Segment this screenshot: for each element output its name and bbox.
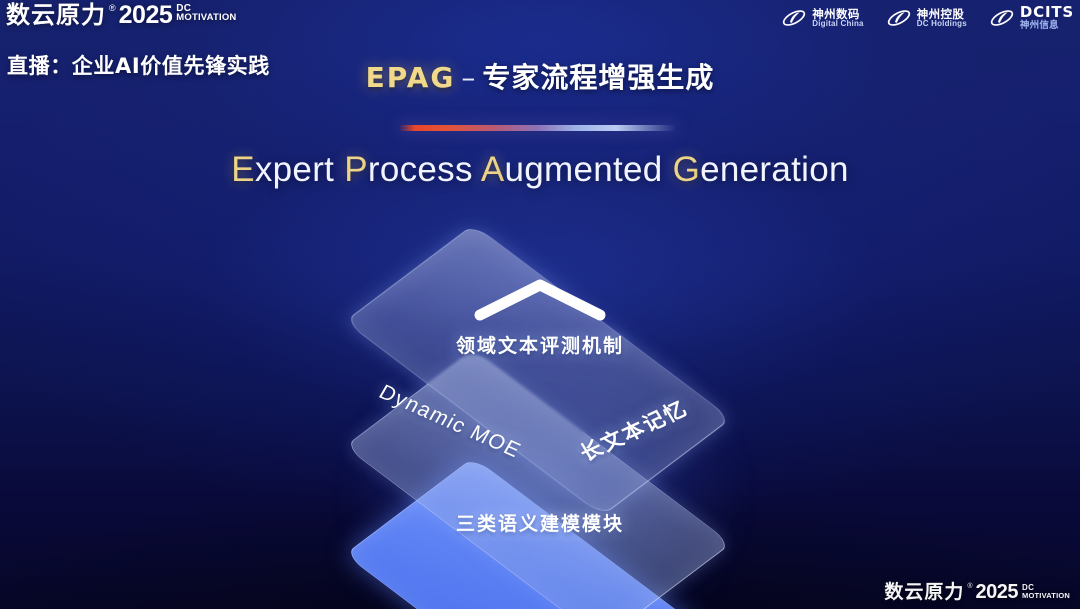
- partner-name-en: Digital China: [812, 20, 864, 28]
- layer-label-bottom: 三类语义建模模块: [0, 509, 1080, 536]
- subtitle-part: xpert: [255, 150, 344, 189]
- brand-watermark: 数云原力 ® 2025 DC MOTIVATION: [884, 582, 1070, 603]
- swoosh-logo-icon: [886, 5, 912, 31]
- subtitle-part: G: [673, 150, 701, 189]
- chevron-up-icon: [472, 277, 608, 323]
- livestream-title: 直播：企业AI价值先锋实践: [7, 50, 270, 80]
- slide-subtitle: Expert Process Augmented Generation: [0, 150, 1080, 190]
- subtitle-part: ugmented: [505, 150, 673, 189]
- watermark-name-cn: 数云原力: [884, 582, 964, 603]
- partner-logo-group: 神州数码 Digital China 神州控股 DC Holdings: [781, 5, 1074, 31]
- subtitle-part: eneration: [700, 150, 849, 189]
- gradient-divider: [398, 125, 678, 131]
- layer-plate-top: [344, 224, 731, 516]
- subtitle-part: rocess: [368, 150, 481, 189]
- subtitle-part: P: [344, 150, 368, 189]
- watermark-year: 2025: [976, 582, 1019, 603]
- partner-label: 神州数码 Digital China: [812, 8, 864, 28]
- epag-layer-stack: 领域文本评测机制 Dynamic MOE 长文本记忆 三类语义建模模块: [0, 215, 1080, 605]
- partner-logo-digital-china: 神州数码 Digital China: [781, 5, 864, 31]
- brand-logo: 数云原力 ® 2025 DC MOTIVATION: [6, 2, 237, 28]
- partner-logo-dcits: DCITS 神州信息: [989, 5, 1074, 31]
- diagram-layer-top[interactable]: [378, 210, 698, 530]
- watermark-motivation-text: MOTIVATION: [1022, 592, 1070, 600]
- swoosh-logo-icon: [781, 5, 807, 31]
- partner-name-en: 神州信息: [1020, 21, 1074, 31]
- brand-motivation-text: MOTIVATION: [176, 13, 236, 22]
- partner-name-cn: DCITS: [1020, 5, 1074, 21]
- brand-year: 2025: [119, 2, 173, 28]
- brand-name-cn: 数云原力: [6, 2, 106, 28]
- brand-registered-mark: ®: [109, 2, 116, 14]
- watermark-registered-mark: ®: [967, 582, 972, 591]
- watermark-dc-motivation: DC MOTIVATION: [1022, 582, 1070, 600]
- header-band: 数云原力 ® 2025 DC MOTIVATION 直播：企业AI价值先锋实践 …: [0, 0, 1080, 98]
- subtitle-part: E: [231, 150, 255, 189]
- partner-name-en: DC Holdings: [917, 20, 967, 28]
- partner-logo-dc-holdings: 神州控股 DC Holdings: [886, 5, 967, 31]
- partner-label: DCITS 神州信息: [1020, 5, 1074, 31]
- brand-dc-motivation: DC MOTIVATION: [176, 2, 236, 22]
- slide-canvas: 数云原力 ® 2025 DC MOTIVATION 直播：企业AI价值先锋实践 …: [0, 0, 1080, 609]
- partner-label: 神州控股 DC Holdings: [917, 8, 967, 28]
- subtitle-part: A: [481, 150, 505, 189]
- swoosh-logo-icon: [989, 5, 1015, 31]
- layer-label-top: 领域文本评测机制: [0, 331, 1080, 358]
